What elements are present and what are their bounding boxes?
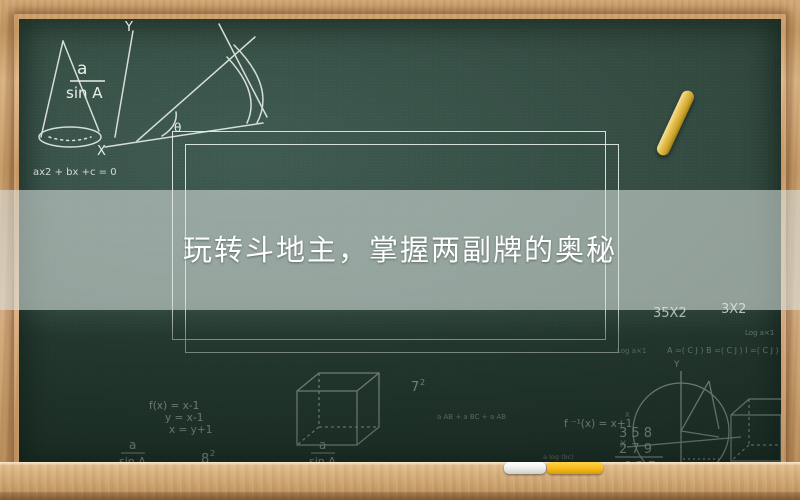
chalk-ledge [0,462,800,500]
chalkboard-banner: Y X θ a sin A ax2 + bx +c = 0 [0,0,800,500]
board-vignette-bottom [19,298,781,469]
ledge-lip [0,462,800,466]
yellow-chalk[interactable] [547,462,603,474]
page-title-text: 玩转斗地主，掌握两副牌的奥秘 [183,236,617,265]
page-title: 玩转斗地主，掌握两副牌的奥秘 [0,190,800,310]
ledge-edge [0,492,800,500]
white-chalk[interactable] [504,462,546,474]
